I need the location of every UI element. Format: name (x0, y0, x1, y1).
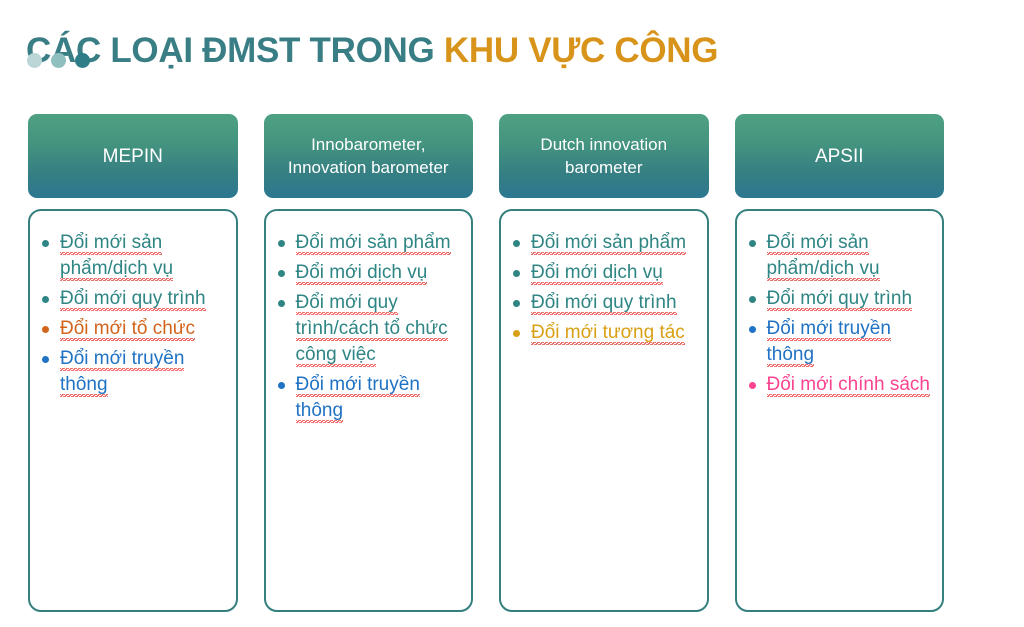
list-item-label: Đổi mới sản phẩm (296, 232, 451, 256)
column-body: Đổi mới sản phẩm/dịch vụĐổi mới quy trìn… (28, 209, 238, 612)
list-item: Đổi mới truyền thông (40, 346, 228, 398)
list-item-label: Đổi mới sản phẩm/dịch vụ (767, 232, 880, 282)
list-item-label: Đổi mới truyền thông (767, 318, 891, 368)
column-body: Đổi mới sản phẩmĐổi mới dịch vụĐổi mới q… (264, 209, 474, 612)
column-header[interactable]: Innobarometer, Innovation barometer (264, 114, 474, 198)
list-item-label: Đổi mới sản phẩm/dịch vụ (60, 232, 173, 282)
column-body: Đổi mới sản phẩmĐổi mới dịch vụĐổi mới q… (499, 209, 709, 612)
list-item: Đổi mới quy trình (747, 286, 935, 312)
list-item: Đổi mới tương tác (511, 320, 699, 346)
innovation-type-list: Đổi mới sản phẩmĐổi mới dịch vụĐổi mới q… (276, 230, 464, 424)
list-item-label: Đổi mới truyền thông (296, 374, 420, 424)
column-header[interactable]: APSII (735, 114, 945, 198)
list-item-label: Đổi mới sản phẩm (531, 232, 686, 256)
list-item-label: Đổi mới quy trình (767, 288, 913, 312)
list-item: Đổi mới quy trình/cách tổ chức công việc (276, 290, 464, 368)
column-body: Đổi mới sản phẩm/dịch vụĐổi mới quy trìn… (735, 209, 945, 612)
list-item: Đổi mới quy trình (511, 290, 699, 316)
comparison-column: Dutch innovation barometerĐổi mới sản ph… (499, 114, 709, 612)
decoration-dot-3 (75, 53, 90, 68)
list-item: Đổi mới dịch vụ (511, 260, 699, 286)
list-item-label: Đổi mới quy trình/cách tổ chức công việc (296, 292, 448, 368)
list-item: Đổi mới quy trình (40, 286, 228, 312)
column-header[interactable]: MEPIN (28, 114, 238, 198)
decoration-dot-1 (27, 53, 42, 68)
comparison-column: Innobarometer, Innovation barometerĐổi m… (264, 114, 474, 612)
title-decoration-dots (27, 53, 90, 68)
list-item: Đổi mới sản phẩm (276, 230, 464, 256)
list-item: Đổi mới sản phẩm/dịch vụ (747, 230, 935, 282)
list-item-label: Đổi mới truyền thông (60, 348, 184, 398)
innovation-type-list: Đổi mới sản phẩmĐổi mới dịch vụĐổi mới q… (511, 230, 699, 346)
list-item-label: Đổi mới chính sách (767, 374, 930, 398)
comparison-column: APSIIĐổi mới sản phẩm/dịch vụĐổi mới quy… (735, 114, 945, 612)
list-item: Đổi mới dịch vụ (276, 260, 464, 286)
innovation-type-list: Đổi mới sản phẩm/dịch vụĐổi mới quy trìn… (747, 230, 935, 398)
list-item: Đổi mới truyền thông (747, 316, 935, 368)
list-item: Đổi mới sản phẩm (511, 230, 699, 256)
list-item: Đổi mới truyền thông (276, 372, 464, 424)
list-item-label: Đổi mới dịch vụ (296, 262, 428, 286)
list-item: Đổi mới tổ chức (40, 316, 228, 342)
decoration-dot-2 (51, 53, 66, 68)
list-item: Đổi mới chính sách (747, 372, 935, 398)
list-item-label: Đổi mới quy trình (531, 292, 677, 316)
list-item-label: Đổi mới tổ chức (60, 318, 195, 342)
list-item-label: Đổi mới dịch vụ (531, 262, 663, 286)
comparison-columns: MEPINĐổi mới sản phẩm/dịch vụĐổi mới quy… (28, 114, 944, 612)
comparison-column: MEPINĐổi mới sản phẩm/dịch vụĐổi mới quy… (28, 114, 238, 612)
list-item-label: Đổi mới quy trình (60, 288, 206, 312)
column-header[interactable]: Dutch innovation barometer (499, 114, 709, 198)
list-item: Đổi mới sản phẩm/dịch vụ (40, 230, 228, 282)
list-item-label: Đổi mới tương tác (531, 322, 685, 346)
innovation-type-list: Đổi mới sản phẩm/dịch vụĐổi mới quy trìn… (40, 230, 228, 398)
page-title: CÁC LOẠI ĐMST TRONG KHU VỰC CÔNG (26, 29, 718, 73)
page-title-accent: KHU VỰC CÔNG (444, 31, 718, 70)
